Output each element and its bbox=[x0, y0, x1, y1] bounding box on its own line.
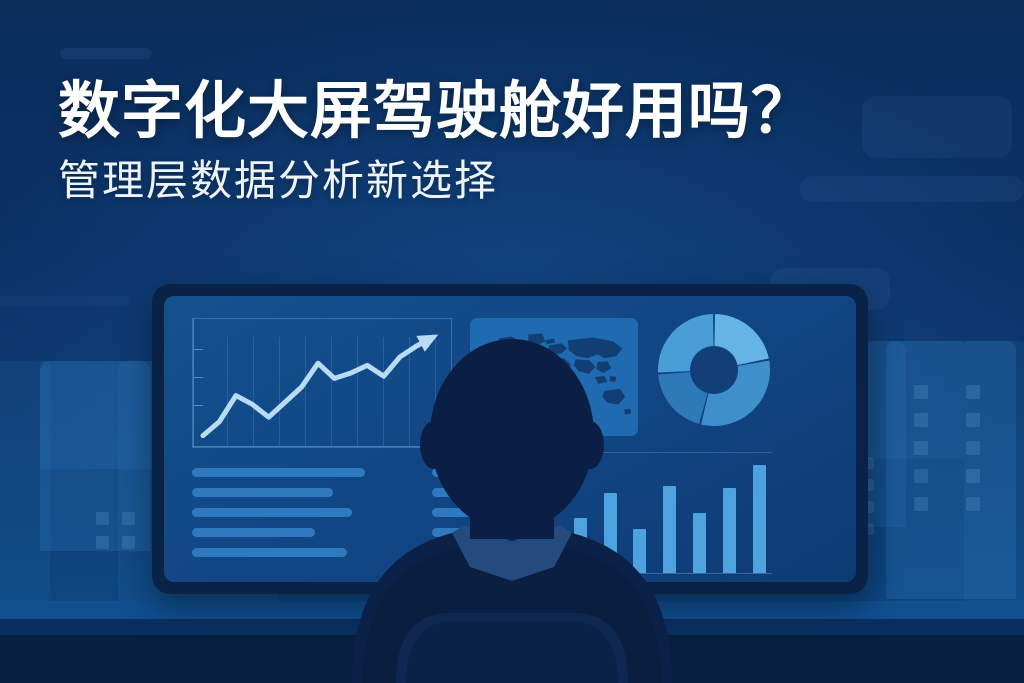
decorative-bar-top-left bbox=[60, 48, 152, 59]
bar-chart-x-axis bbox=[470, 573, 772, 574]
bar bbox=[574, 518, 587, 573]
data-row-line bbox=[432, 548, 514, 557]
dashboard-monitor[interactable] bbox=[152, 284, 868, 594]
building-window bbox=[966, 469, 980, 483]
headline-block: 数字化大屏驾驶舱好用吗？ 管理层数据分析新选择 bbox=[58, 78, 958, 205]
bar bbox=[723, 488, 736, 573]
building-window bbox=[122, 536, 135, 549]
building-window bbox=[914, 469, 928, 483]
floor-band-dark bbox=[0, 635, 1024, 683]
dashboard-screen bbox=[164, 296, 856, 582]
building-window bbox=[96, 536, 109, 549]
data-row-line bbox=[432, 508, 498, 517]
building-window bbox=[966, 497, 980, 511]
bar bbox=[753, 465, 766, 573]
donut-hole bbox=[690, 346, 738, 394]
world-map-panel[interactable] bbox=[470, 318, 638, 436]
data-rows-right[interactable] bbox=[432, 468, 564, 568]
building-window bbox=[914, 441, 928, 455]
building-window bbox=[966, 441, 980, 455]
data-row-line bbox=[192, 548, 347, 557]
data-row-line bbox=[432, 488, 524, 497]
building-window bbox=[966, 413, 980, 427]
poster-canvas: 数字化大屏驾驶舱好用吗？ 管理层数据分析新选择 bbox=[0, 0, 1024, 683]
floor-band-light bbox=[0, 601, 1024, 621]
page-subtitle: 管理层数据分析新选择 bbox=[58, 157, 958, 205]
data-row-line bbox=[432, 528, 548, 537]
building-window bbox=[914, 385, 928, 399]
bar bbox=[633, 529, 646, 573]
data-row-line bbox=[432, 468, 553, 477]
building-window bbox=[966, 385, 980, 399]
data-row-line bbox=[192, 508, 352, 517]
bar bbox=[604, 493, 617, 574]
line-chart-panel[interactable] bbox=[192, 318, 452, 448]
decorative-bar-left bbox=[0, 296, 130, 306]
building-window bbox=[914, 497, 928, 511]
bar-chart-top-line bbox=[470, 452, 772, 453]
bar bbox=[663, 486, 676, 573]
trend-line-svg bbox=[193, 319, 451, 447]
page-title: 数字化大屏驾驶舱好用吗？ bbox=[58, 78, 958, 145]
world-map-icon bbox=[470, 318, 638, 436]
data-row-line bbox=[192, 488, 333, 497]
data-row-line bbox=[192, 528, 315, 537]
data-rows-left[interactable] bbox=[192, 468, 420, 568]
data-row-line bbox=[192, 468, 365, 477]
building-window bbox=[914, 413, 928, 427]
building-window bbox=[96, 512, 109, 525]
donut-chart-panel[interactable] bbox=[656, 312, 772, 428]
building-window bbox=[122, 512, 135, 525]
bar bbox=[693, 513, 706, 573]
donut-chart-icon bbox=[656, 312, 772, 428]
